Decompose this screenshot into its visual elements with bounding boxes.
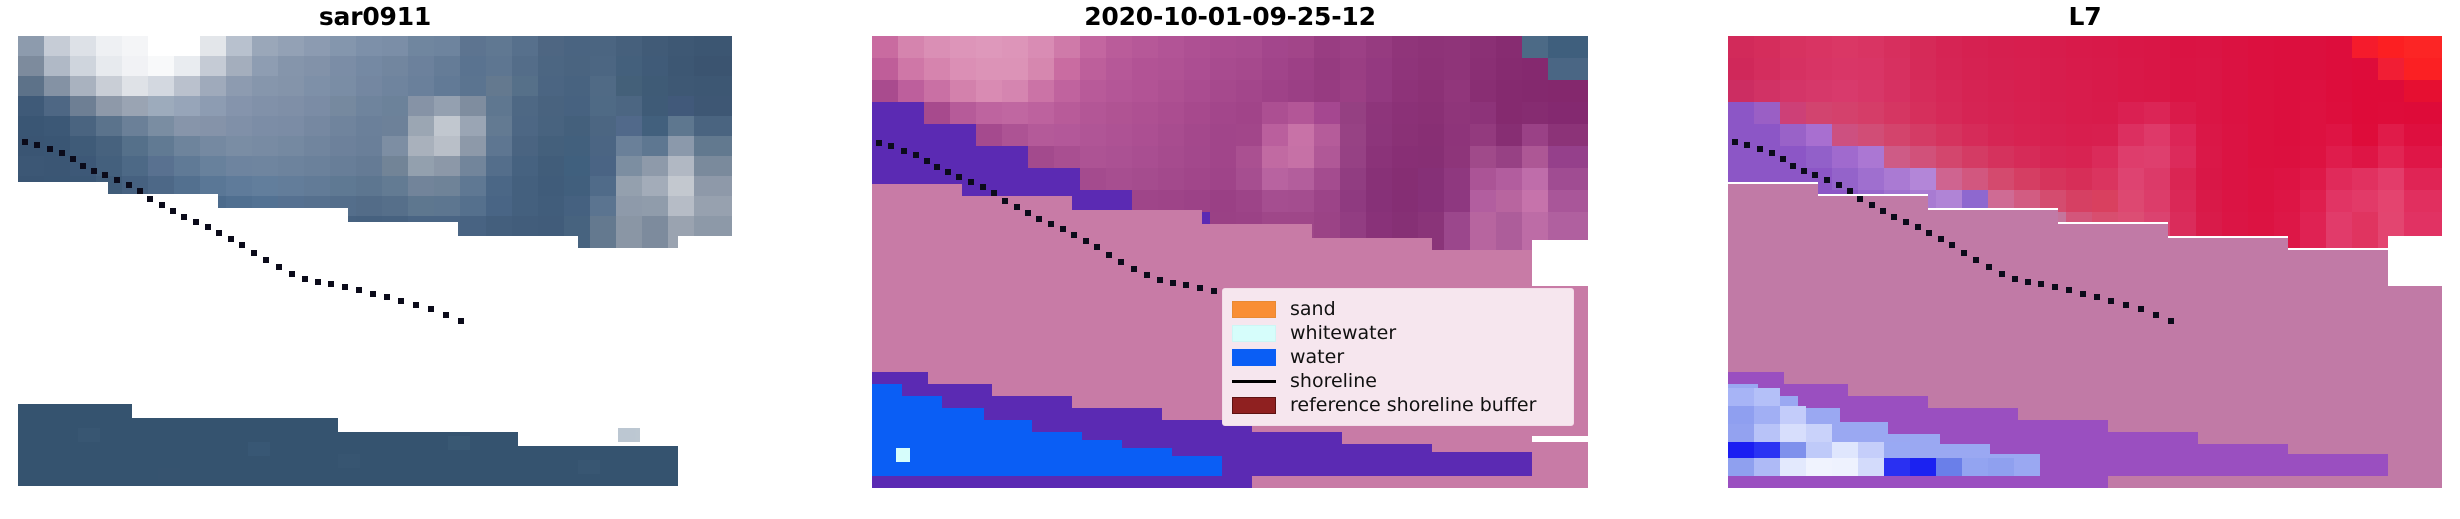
shoreline-line-swatch bbox=[1232, 380, 1276, 383]
reference-shoreline-buffer-swatch bbox=[1232, 397, 1276, 414]
legend-item-shoreline: shoreline bbox=[1232, 369, 1563, 393]
legend-item-sand: sand bbox=[1232, 297, 1563, 321]
legend-label-sand: sand bbox=[1290, 300, 1336, 319]
legend-box: sand whitewater water shoreline referenc… bbox=[1222, 288, 1574, 426]
axes-l7 bbox=[1728, 36, 2442, 504]
sar-raster bbox=[18, 36, 732, 504]
panel-classified: 2020-10-01-09-25-12 bbox=[872, 0, 1588, 519]
panel-l7: L7 bbox=[1728, 0, 2442, 519]
legend-label-reference-shoreline-buffer: reference shoreline buffer bbox=[1290, 396, 1536, 415]
legend-label-shoreline: shoreline bbox=[1290, 372, 1377, 391]
legend-label-whitewater: whitewater bbox=[1290, 324, 1396, 343]
l7-raster bbox=[1728, 36, 2442, 504]
panel-title-l7: L7 bbox=[1728, 2, 2442, 31]
panel-title-classified: 2020-10-01-09-25-12 bbox=[872, 2, 1588, 31]
whitewater-pixel-classified bbox=[896, 448, 910, 462]
figure-canvas: sar0911 bbox=[0, 0, 2460, 519]
legend-label-water: water bbox=[1290, 348, 1344, 367]
classified-raster bbox=[872, 36, 1588, 504]
panel-title-sar0911: sar0911 bbox=[18, 2, 732, 31]
legend-item-water: water bbox=[1232, 345, 1563, 369]
sand-swatch bbox=[1232, 301, 1276, 318]
axes-sar0911 bbox=[18, 36, 732, 504]
whitewater-swatch bbox=[1232, 325, 1276, 342]
axes-classified bbox=[872, 36, 1588, 504]
water-swatch bbox=[1232, 349, 1276, 366]
panel-sar0911: sar0911 bbox=[18, 0, 732, 519]
legend-item-reference-shoreline-buffer: reference shoreline buffer bbox=[1232, 393, 1563, 417]
legend-item-whitewater: whitewater bbox=[1232, 321, 1563, 345]
